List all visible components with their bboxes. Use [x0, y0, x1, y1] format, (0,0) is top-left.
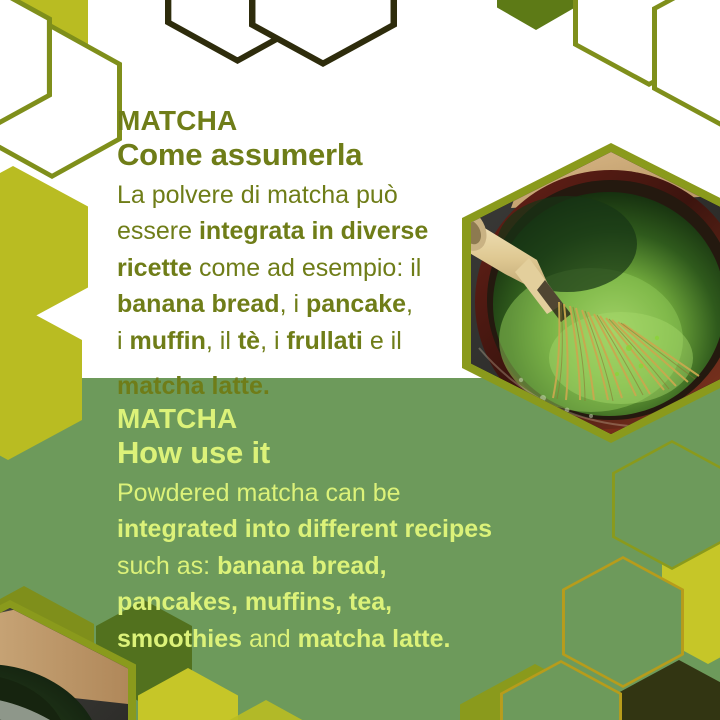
text-line: banana bread, i pancake,	[117, 286, 457, 323]
italian-text-block: MATCHA Come assumerla La polvere di matc…	[117, 106, 457, 359]
italian-kicker: MATCHA	[117, 106, 457, 136]
text-line: pancakes, muffins, tea,	[117, 584, 537, 621]
text-line: such as: banana bread,	[117, 548, 537, 585]
text-line: i muffin, il tè, i frullati e il	[117, 323, 457, 360]
text-line: La polvere di matcha può	[117, 177, 457, 214]
text-line: essere integrata in diverse	[117, 213, 457, 250]
english-headline: How use it	[117, 436, 537, 471]
italian-body: La polvere di matcha puòessere integrata…	[117, 177, 457, 360]
text-line: ricette come ad esempio: il	[117, 250, 457, 287]
english-body: Powdered matcha can beintegrated into di…	[117, 475, 537, 658]
english-text-block: MATCHA How use it Powdered matcha can be…	[117, 404, 537, 657]
text-line: smoothies and matcha latte.	[117, 621, 537, 658]
text-line: Powdered matcha can be	[117, 475, 537, 512]
italian-headline: Come assumerla	[117, 138, 457, 173]
italian-spill-line: matcha latte.	[117, 368, 270, 405]
poster-canvas: MATCHA Come assumerla La polvere di matc…	[0, 0, 720, 720]
text-line: integrated into different recipes	[117, 511, 537, 548]
english-kicker: MATCHA	[117, 404, 537, 434]
